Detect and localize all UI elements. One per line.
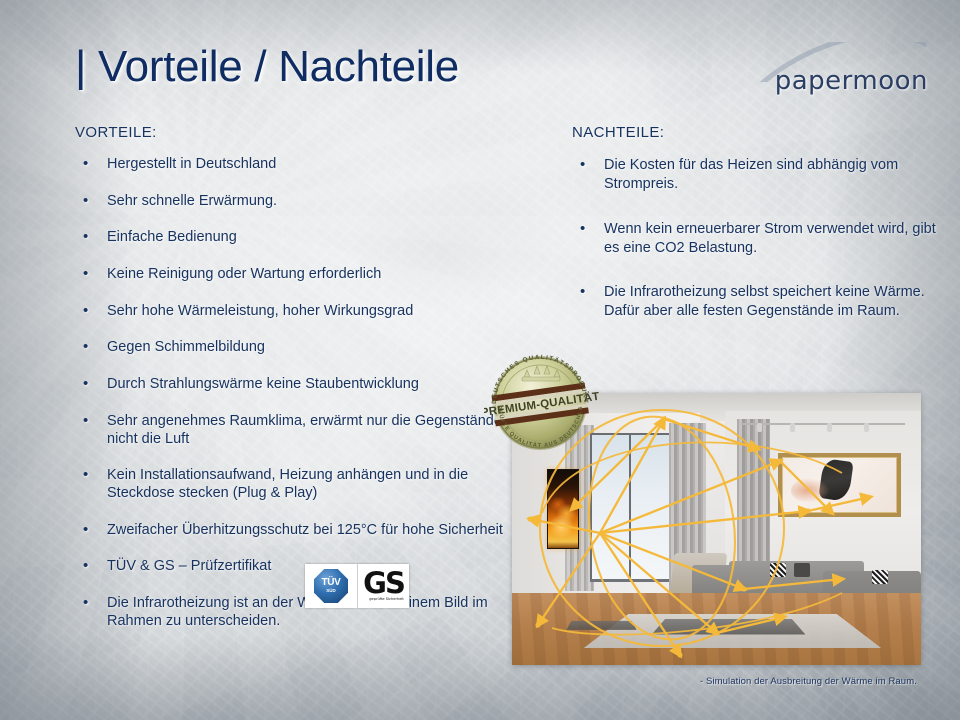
list-item: Die Infrarotheizung ist an der Wand nich… bbox=[75, 595, 515, 630]
advantages-column: VORTEILE: Hergestellt in Deutschland Seh… bbox=[75, 124, 515, 649]
list-item: Gegen Schimmelbildung bbox=[75, 339, 515, 357]
tuv-octagon-icon: TÜV SÜD bbox=[314, 569, 348, 603]
photo-caption: - Simulation der Ausbreitung der Wärme i… bbox=[700, 676, 917, 687]
brand-name: papermoon bbox=[775, 66, 928, 96]
premium-quality-seal: PREMIUM-QUALITÄT DEUTSCHES QUALITÄTSPROD… bbox=[484, 347, 600, 455]
advantages-heading: VORTEILE: bbox=[75, 124, 515, 141]
disadvantages-column: NACHTEILE: Die Kosten für das Heizen sin… bbox=[572, 124, 942, 347]
page-title: | Vorteile / Nachteile bbox=[75, 44, 459, 90]
list-item: Hergestellt in Deutschland bbox=[75, 156, 515, 174]
list-item: Die Kosten für das Heizen sind abhängig … bbox=[572, 156, 942, 194]
list-item: Die Infrarotheizung selbst speichert kei… bbox=[572, 283, 942, 321]
slide-canvas: | Vorteile / Nachteile papermoon VORTEIL… bbox=[0, 0, 960, 720]
list-item: Sehr schnelle Erwärmung. bbox=[75, 193, 515, 211]
list-item: Kein Installationsaufwand, Heizung anhän… bbox=[75, 467, 515, 502]
gs-mark: GS geprüfte Sicherheit bbox=[357, 564, 409, 608]
gs-sublabel: geprüfte Sicherheit bbox=[369, 598, 404, 602]
list-item: Sehr hohe Wärmeleistung, hoher Wirkungsg… bbox=[75, 303, 515, 321]
tuv-label: TÜV bbox=[321, 578, 340, 588]
tuev-gs-certification-logo: TÜV SÜD GS geprüfte Sicherheit bbox=[305, 564, 409, 608]
list-item: Sehr angenehmes Raumklima, erwärmt nur d… bbox=[75, 413, 515, 448]
tuev-gs-box: TÜV SÜD GS geprüfte Sicherheit bbox=[305, 564, 409, 608]
list-item: Keine Reinigung oder Wartung erforderlic… bbox=[75, 266, 515, 284]
disadvantages-heading: NACHTEILE: bbox=[572, 124, 942, 141]
papermoon-logo: papermoon bbox=[732, 42, 932, 112]
gs-text: GS bbox=[363, 566, 404, 600]
list-item: Durch Strahlungswärme keine Staubentwick… bbox=[75, 376, 515, 394]
list-item: Wenn kein erneuerbarer Strom verwendet w… bbox=[572, 220, 942, 258]
tuv-sublabel: SÜD bbox=[326, 589, 336, 594]
disadvantages-list: Die Kosten für das Heizen sind abhängig … bbox=[572, 156, 942, 321]
advantages-list: Hergestellt in Deutschland Sehr schnelle… bbox=[75, 156, 515, 630]
list-item: Zweifacher Überhitzungsschutz bei 125°C … bbox=[75, 522, 515, 540]
gs-label: GS geprüfte Sicherheit bbox=[363, 571, 404, 602]
tuv-mark: TÜV SÜD bbox=[305, 564, 357, 608]
list-item: Einfache Bedienung bbox=[75, 229, 515, 247]
list-item: TÜV & GS – Prüfzertifikat bbox=[75, 558, 515, 576]
